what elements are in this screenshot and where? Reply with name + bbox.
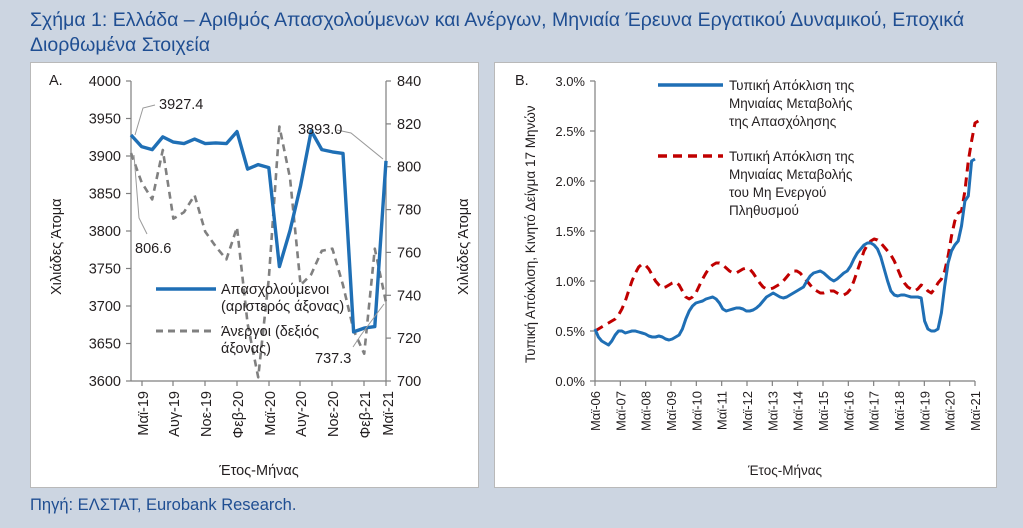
panel-b-xlabel: Έτος-Μήνας [747,463,823,478]
panel-a-ytick-6: 3900 [89,149,121,165]
panel-a-y2tick-1: 720 [397,331,421,347]
panel-a-anno-label-1: 806.6 [135,241,171,257]
panel-b-ytick-4: 2.0% [555,174,585,189]
panel-a-y2tick-6: 820 [397,117,421,133]
panel-a-letter: A. [49,73,63,89]
panel-a-y2tick-0: 700 [397,374,421,390]
panel-b-legend-label-inactive-2: Μηνιαίας Μεταβολής [729,167,853,182]
panel-a-ytick-3: 3750 [89,262,121,278]
panel-b-svg: B. 3.0% 2.5% 2.0% 1.5% 1.0% 0.5% 0.0% Τυ… [495,63,994,485]
panel-a-svg: A. 4000 3950 3900 3850 3800 3750 3700 36… [31,63,476,485]
panel-a-ytick-2: 3700 [89,299,121,315]
panel-b-xtick-label-11: Μαϊ-17 [867,391,882,431]
panel-b-xtick-label-13: Μαϊ-19 [917,391,932,431]
panel-a-ytick-7: 3950 [89,112,121,128]
panel-a-y2tick-4: 780 [397,203,421,219]
panel-a-annotation-3927: 3927.4 [135,97,203,135]
panel-a-y2label: Χιλιάδες Άτομα [456,198,472,295]
panel-a-ytick-0: 3600 [89,374,121,390]
panel-a-legend-label-employed-2: (αριστερός άξονας) [221,299,344,315]
panel-b-ytick-1: 0.5% [555,324,585,339]
panel-b-ytick-3: 1.5% [555,224,585,239]
panel-b-letter: B. [515,73,529,89]
panel-a-legend-label-employed-1: Απασχολούμενοι [221,282,329,298]
panel-a-x-ticks [142,381,386,386]
panel-b-xtick-label-3: Μαϊ-09 [664,391,679,431]
panel-b-xtick-label-0: Μαϊ-06 [588,391,603,431]
panel-b-xtick-label-12: Μαϊ-18 [892,391,907,431]
figure-title: Σχήμα 1: Ελλάδα – Αριθμός Απασχολούμενων… [30,8,995,58]
panel-b-ytick-2: 1.0% [555,274,585,289]
source-note: Πηγή: ΕΛΣΤΑΤ, Eurobank Research. [30,496,296,515]
panel-b-xtick-label-2: Μαϊ-08 [639,391,654,431]
panel-a-xtick-7: Φεβ-21 [358,391,374,438]
panel-a-left-ticks [126,81,131,381]
panel-a-legend-label-unemployed-1: Άνεργοι (δεξιός [221,324,319,340]
chart-panel-b: B. 3.0% 2.5% 2.0% 1.5% 1.0% 0.5% 0.0% Τυ… [494,62,997,488]
panel-b-xtick-label-7: Μαϊ-13 [765,391,780,431]
panel-b-xtick-label-1: Μαϊ-07 [613,391,628,431]
panel-a-xtick-0: Μαϊ-19 [136,391,152,436]
panel-a-y2tick-7: 840 [397,74,421,90]
panel-b-ytick-5: 2.5% [555,124,585,139]
panel-a-xtick-3: Φεβ-20 [231,391,247,438]
panel-b-xtick-label-8: Μαϊ-14 [791,391,806,431]
panel-b-xtick-label-5: Μαϊ-11 [715,391,730,430]
panel-b-xtick-label-10: Μαϊ-16 [841,391,856,431]
panel-b-x-ticks [595,381,975,386]
panel-b-ylabel: Τυπική Απόκλιση, Κινητό Δείγμα 17 Μηνών [523,105,538,363]
panel-b-y-ticks [590,81,595,381]
panel-a-ytick-8: 4000 [89,74,121,90]
panel-a-xtick-1: Αυγ-19 [167,391,183,437]
panel-b-legend-label-inactive-3: του Μη Ενεργού [729,185,826,200]
panel-b-xtick-label-6: Μαϊ-12 [740,391,755,431]
panel-a-xtick-5: Αυγ-20 [294,391,310,437]
panel-a-xlabel: Έτος-Μήνας [218,463,299,479]
panel-b-ytick-0: 0.0% [555,374,585,389]
panel-a-anno-label-3: 737.3 [315,351,351,367]
panel-a-anno-label-0: 3927.4 [159,97,203,113]
panel-b-legend-label-inactive-1: Τυπική Απόκλιση της [729,149,855,164]
panel-b-xtick-label-9: Μαϊ-15 [816,391,831,431]
panel-a-ylabel: Χιλιάδες Άτομα [49,198,65,295]
panel-a-xtick-2: Νοε-19 [199,391,215,437]
panel-b-ytick-6: 3.0% [555,74,585,89]
panel-b-legend-label-employment-3: της Απασχόλησης [729,114,837,129]
panel-a-y2tick-5: 800 [397,160,421,176]
panel-a-ytick-5: 3850 [89,187,121,203]
panel-a-right-ticks [386,81,391,381]
panel-b-legend-label-inactive-4: Πληθυσμού [729,203,799,218]
panel-a-ytick-1: 3650 [89,337,121,353]
panel-a-y2tick-3: 760 [397,245,421,261]
panel-b-legend-label-employment-1: Τυπική Απόκλιση της [729,78,855,93]
panel-b-xtick-label-15: Μαϊ-21 [968,391,983,431]
panel-b-x-tick-labels: Μαϊ-06Μαϊ-07Μαϊ-08Μαϊ-09Μαϊ-10Μαϊ-11Μαϊ-… [588,391,983,431]
panel-a-y2tick-2: 740 [397,288,421,304]
panel-b-legend-label-employment-2: Μηνιαίας Μεταβολής [729,96,853,111]
panel-b-xtick-label-14: Μαϊ-20 [943,391,958,431]
chart-panel-a: A. 4000 3950 3900 3850 3800 3750 3700 36… [30,62,479,488]
panel-a-legend: Απασχολούμενοι (αριστερός άξονας) Άνεργο… [156,282,344,357]
panel-a-ytick-4: 3800 [89,224,121,240]
panel-a-xtick-6: Νοε-20 [326,391,342,437]
panel-b-legend: Τυπική Απόκλιση της Μηνιαίας Μεταβολής τ… [658,78,855,218]
panel-a-xtick-4: Μαϊ-20 [263,391,279,436]
panel-a-xtick-8: Μαϊ-21 [381,391,397,436]
panel-a-anno-label-2: 3893.0 [298,122,342,138]
panel-a-legend-label-unemployed-2: άξονας) [221,341,271,357]
panel-b-xtick-label-4: Μαϊ-10 [689,391,704,431]
